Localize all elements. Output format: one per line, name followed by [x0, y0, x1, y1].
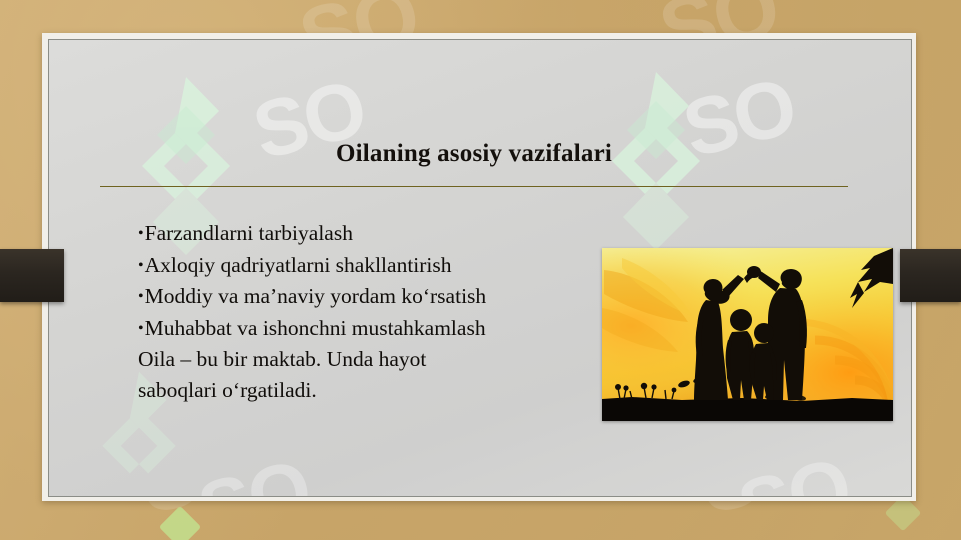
- presentation-slide: SO SO SO SO SO SO SO SO: [0, 0, 961, 540]
- slide-surface: [49, 40, 911, 496]
- left-edge-tab: [0, 249, 64, 302]
- right-edge-tab: [900, 249, 961, 302]
- slide-frame-inner: SO SO SO SO: [48, 39, 912, 497]
